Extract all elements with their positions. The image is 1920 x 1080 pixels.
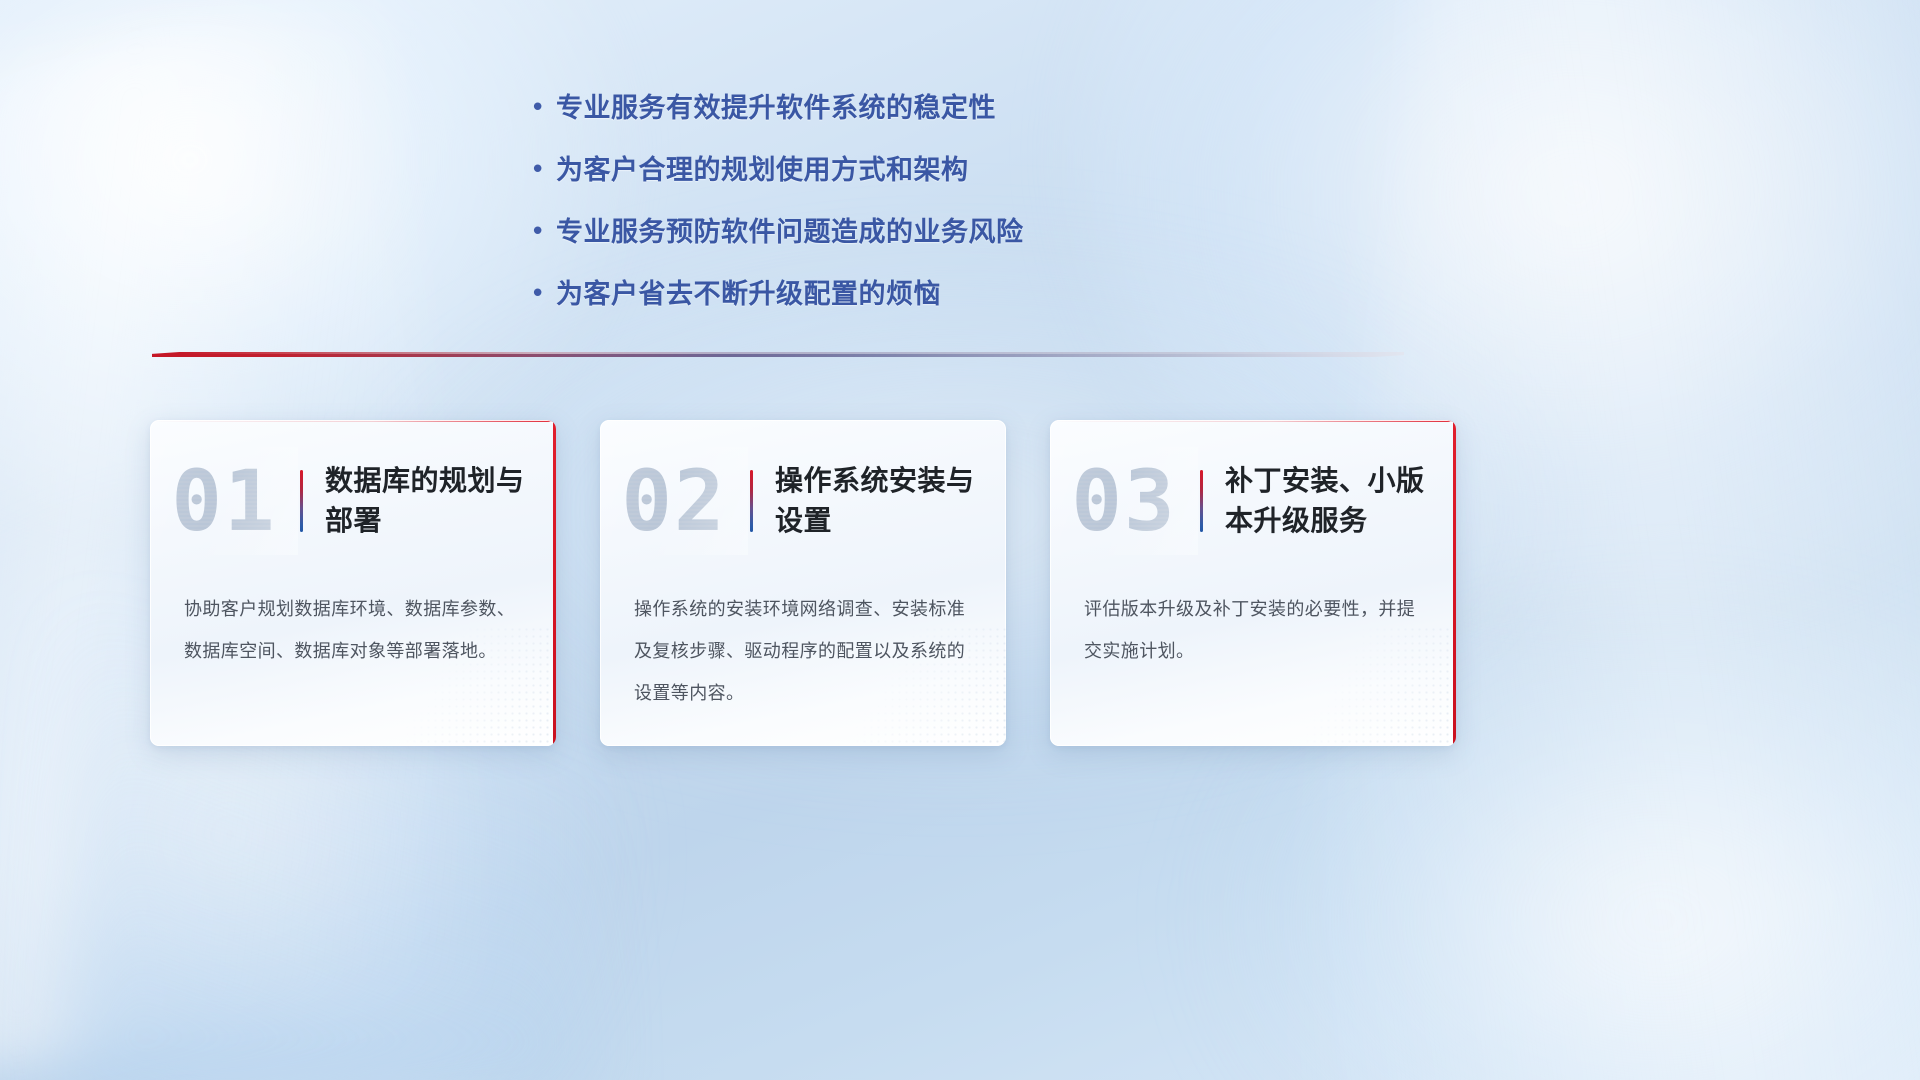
service-card-03[interactable]: 03 补丁安装、小版本升级服务 评估版本升级及补丁安装的必要性，并提交实施计划。 (1050, 420, 1456, 746)
list-item: • 为客户合理的规划使用方式和架构 (530, 150, 1170, 190)
bullet-text: 为客户省去不断升级配置的烦恼 (556, 274, 941, 314)
list-item: • 为客户省去不断升级配置的烦恼 (530, 274, 1170, 314)
section-divider (152, 350, 1404, 360)
card-title: 补丁安装、小版本升级服务 (1225, 461, 1456, 541)
service-card-01[interactable]: 01 数据库的规划与部署 协助客户规划数据库环境、数据库参数、数据库空间、数据库… (150, 420, 556, 746)
service-card-row: 01 数据库的规划与部署 协助客户规划数据库环境、数据库参数、数据库空间、数据库… (150, 420, 1460, 750)
bullet-text: 为客户合理的规划使用方式和架构 (556, 150, 969, 190)
slide-canvas: • 专业服务有效提升软件系统的稳定性 • 为客户合理的规划使用方式和架构 • 专… (0, 0, 1920, 1080)
card-header: 02 操作系统安装与设置 (600, 438, 1006, 564)
bullet-dot-icon: • (530, 274, 556, 314)
bullet-text: 专业服务预防软件问题造成的业务风险 (556, 212, 1024, 252)
card-accent-rule (750, 470, 753, 532)
list-item: • 专业服务预防软件问题造成的业务风险 (530, 212, 1170, 252)
list-item: • 专业服务有效提升软件系统的稳定性 (530, 88, 1170, 128)
card-title: 数据库的规划与部署 (325, 461, 556, 541)
card-header: 01 数据库的规划与部署 (150, 438, 556, 564)
card-accent-rule (1200, 470, 1203, 532)
card-body-text: 协助客户规划数据库环境、数据库参数、数据库空间、数据库对象等部署落地。 (184, 588, 530, 672)
bullet-dot-icon: • (530, 88, 556, 128)
card-title: 操作系统安装与设置 (775, 461, 1006, 541)
divider-sheen (177, 352, 1379, 354)
service-card-02[interactable]: 02 操作系统安装与设置 操作系统的安装环境网络调查、安装标准及复核步骤、驱动程… (600, 420, 1006, 746)
bullet-dot-icon: • (530, 212, 556, 252)
card-accent-rule (300, 470, 303, 532)
bullet-text: 专业服务有效提升软件系统的稳定性 (556, 88, 996, 128)
benefits-bullet-list: • 专业服务有效提升软件系统的稳定性 • 为客户合理的规划使用方式和架构 • 专… (530, 88, 1170, 314)
card-number: 02 (600, 447, 748, 555)
bullet-dot-icon: • (530, 150, 556, 190)
card-header: 03 补丁安装、小版本升级服务 (1050, 438, 1456, 564)
card-body-text: 评估版本升级及补丁安装的必要性，并提交实施计划。 (1084, 588, 1430, 672)
card-body-text: 操作系统的安装环境网络调查、安装标准及复核步骤、驱动程序的配置以及系统的设置等内… (634, 588, 980, 714)
card-number: 03 (1050, 447, 1198, 555)
card-number: 01 (150, 447, 298, 555)
